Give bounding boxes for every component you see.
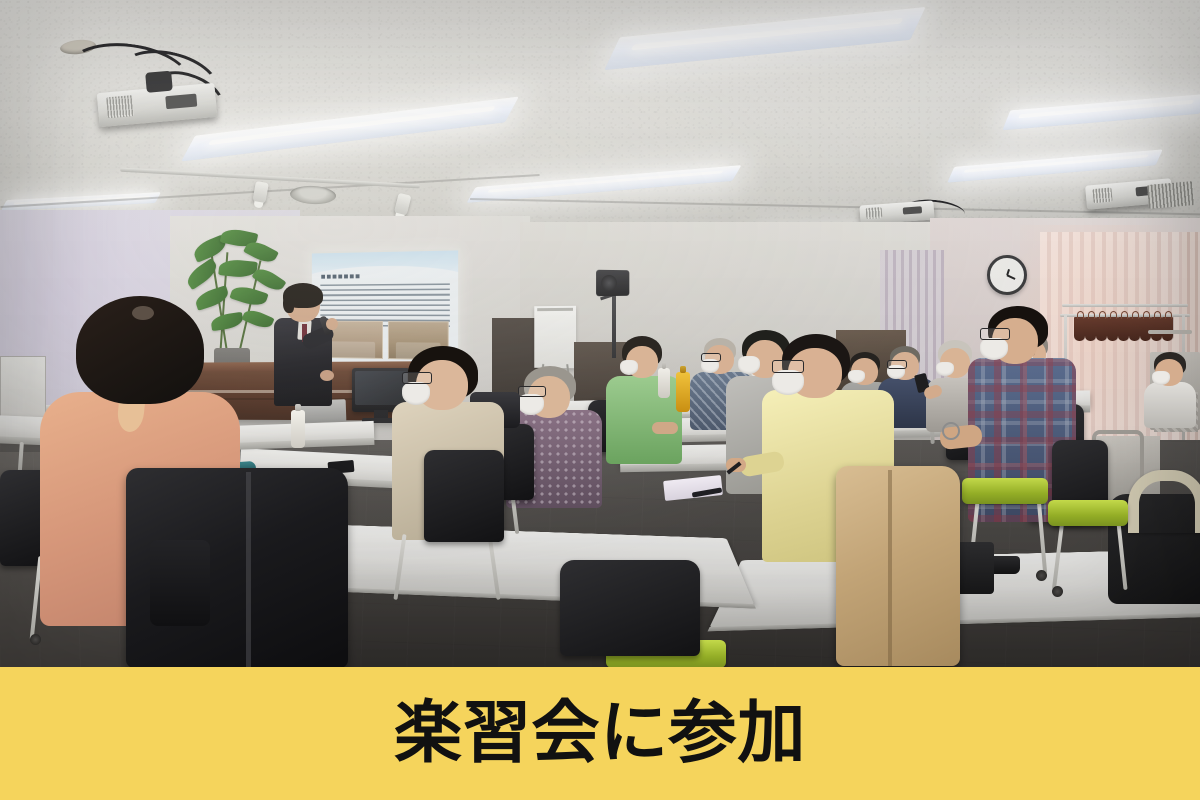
water-bottle <box>291 410 305 448</box>
projector-vent-grill <box>1147 181 1195 209</box>
caption-band: 楽習会に参加 <box>0 667 1200 800</box>
chair-caster <box>30 634 41 645</box>
chair-back <box>424 450 504 542</box>
face-mask <box>738 356 760 374</box>
speaker-on-stand <box>596 270 629 296</box>
chair-seat <box>1048 500 1128 526</box>
slide-title-text <box>321 274 361 278</box>
screenshot-root: 楽習会に参加 <box>0 0 1200 800</box>
attendee-torso <box>606 376 682 464</box>
eyeglasses <box>980 328 1010 340</box>
clothes-hanger-icon <box>1096 317 1107 341</box>
jacket-sleeve <box>150 540 210 626</box>
rolling-cart-handle <box>1148 330 1192 334</box>
chair-caster <box>1036 570 1047 581</box>
bag-handle <box>1128 470 1200 533</box>
flipchart-easel <box>534 306 576 368</box>
face-mask <box>402 382 430 405</box>
chair-caster <box>1052 586 1063 597</box>
plant-leaf <box>241 307 274 332</box>
seminar-room-photo <box>0 0 1200 667</box>
presenter <box>272 286 336 404</box>
wall-clock <box>987 255 1027 295</box>
clothes-hanger-icon <box>1085 317 1096 341</box>
hair-highlight <box>132 306 154 320</box>
clothes-hanger-icon <box>1140 317 1151 341</box>
face-mask <box>772 370 804 395</box>
slide-header-wave <box>312 250 458 274</box>
face-mask <box>980 338 1008 360</box>
eyeglasses <box>402 372 432 384</box>
presenter-hair <box>283 283 323 308</box>
eyeglasses <box>772 360 804 373</box>
attendee-torso <box>1144 382 1196 428</box>
clothes-hanger-icon <box>1107 317 1118 341</box>
clothes-hanger-icon <box>1129 317 1140 341</box>
face-mask <box>518 394 544 415</box>
caption-text: 楽習会に参加 <box>394 700 806 768</box>
coat-rack-top-bar <box>1062 304 1188 307</box>
projector-lens <box>145 71 173 93</box>
tan-jacket-on-chair <box>836 466 960 666</box>
attendee-hand <box>652 422 678 434</box>
clothes-hanger-icon <box>1151 317 1162 341</box>
chair-seat <box>962 478 1048 504</box>
eyeglasses <box>518 386 546 397</box>
tea-bottle <box>676 372 690 412</box>
presenter-hand <box>326 318 338 330</box>
jacket-fold <box>246 472 251 667</box>
attendee-green-top <box>606 336 682 464</box>
chair-back <box>560 560 700 656</box>
clothes-hanger-icon <box>1118 317 1129 341</box>
presenter-hand <box>320 370 334 381</box>
face-mask <box>1152 371 1170 385</box>
clothes-hanger-icon <box>1162 317 1173 341</box>
jacket-fold <box>888 470 892 666</box>
water-bottle <box>658 368 670 398</box>
face-mask <box>620 360 638 375</box>
attendee-far-right-edge <box>1144 352 1196 428</box>
face-mask <box>936 362 954 376</box>
wristwatch <box>942 422 960 440</box>
eyeglasses <box>701 353 721 362</box>
